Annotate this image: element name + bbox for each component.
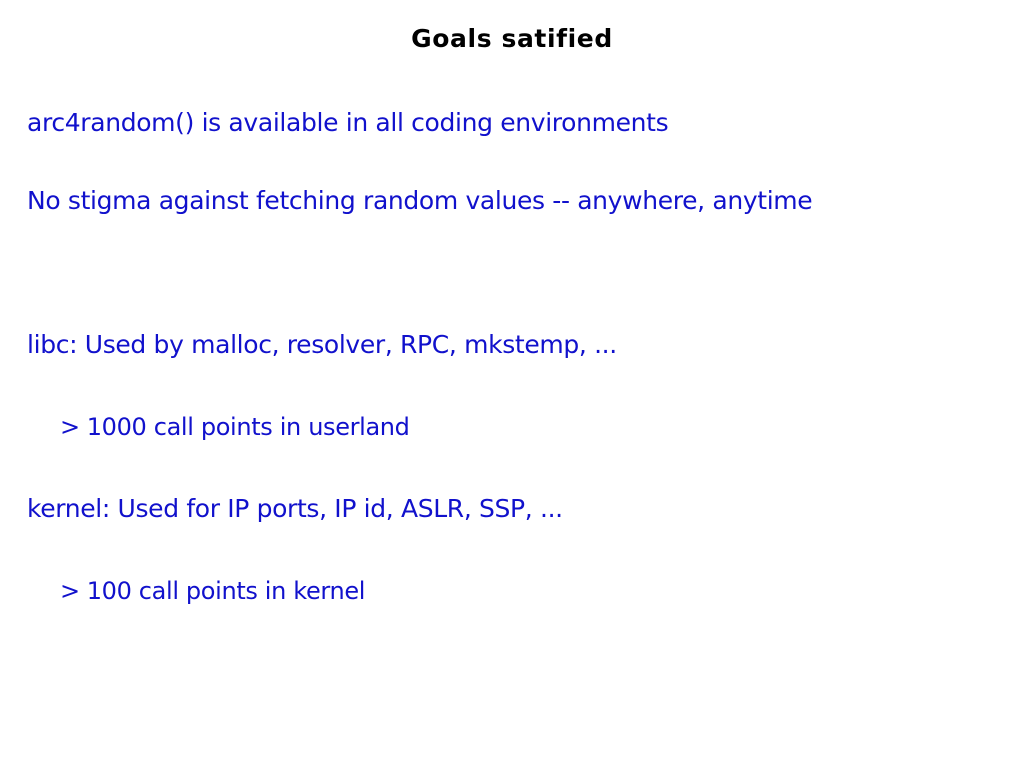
spacer: [27, 282, 997, 330]
spacer: [27, 138, 997, 186]
presentation-slide: Goals satified arc4random() is available…: [0, 0, 1024, 768]
bullet-libc-usage: libc: Used by malloc, resolver, RPC, mks…: [27, 330, 997, 360]
bullet-kernel-call-points: >100 call points in kernel: [60, 576, 997, 606]
bullet-kernel-call-points-label: 100 call points in kernel: [87, 577, 365, 605]
slide-body: arc4random() is available in all coding …: [27, 108, 997, 606]
slide-title: Goals satified: [0, 24, 1024, 54]
bullet-kernel-usage: kernel: Used for IP ports, IP id, ASLR, …: [27, 494, 997, 524]
bullet-no-stigma: No stigma against fetching random values…: [27, 186, 997, 216]
bullet-userland-call-points: >1000 call points in userland: [60, 412, 997, 442]
sub-bullet-marker-icon: >: [60, 412, 80, 442]
sub-bullet-marker-icon: >: [60, 576, 80, 606]
spacer: [27, 360, 997, 412]
bullet-userland-call-points-label: 1000 call points in userland: [87, 413, 410, 441]
spacer: [27, 442, 997, 494]
spacer: [27, 524, 997, 576]
spacer: [27, 216, 997, 282]
bullet-arc4random-availability: arc4random() is available in all coding …: [27, 108, 997, 138]
